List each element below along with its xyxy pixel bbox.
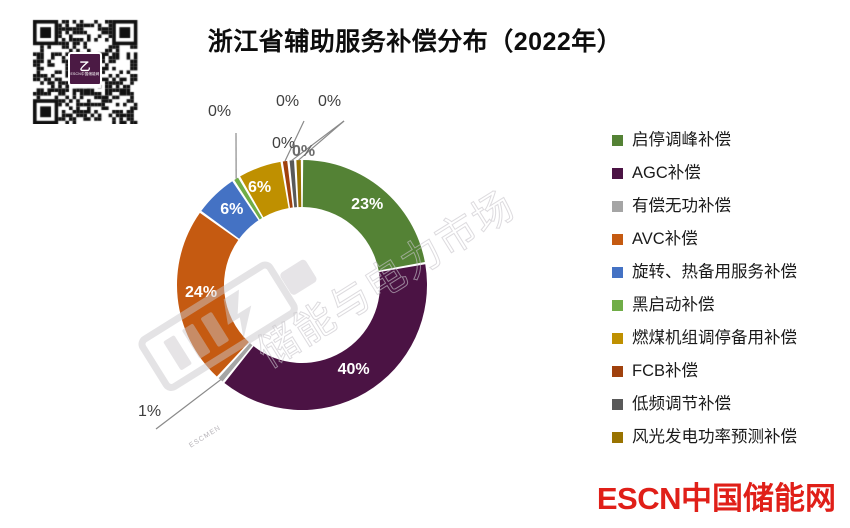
legend-item[interactable]: AVC补偿	[612, 223, 842, 256]
chart-legend: 启停调峰补偿AGC补偿有偿无功补偿AVC补偿旋转、热备用服务补偿黑启动补偿燃煤机…	[612, 124, 842, 454]
pie-data-label: 6%	[212, 201, 252, 219]
pie-slice[interactable]	[296, 160, 301, 207]
legend-item-label: AVC补偿	[632, 231, 698, 248]
legend-item[interactable]: 启停调峰补偿	[612, 124, 842, 157]
legend-color-swatch	[612, 234, 623, 245]
qr-center-logo: 乙 ESCN中国储能网	[68, 52, 102, 86]
pie-data-label: 0%	[292, 143, 315, 161]
legend-item[interactable]: 风光发电功率预测补偿	[612, 421, 842, 454]
pie-data-label: 1%	[138, 403, 161, 421]
legend-item-label: 风光发电功率预测补偿	[632, 429, 797, 446]
pie-data-label: 0%	[208, 103, 231, 121]
legend-item[interactable]: 燃煤机组调停备用补偿	[612, 322, 842, 355]
legend-item[interactable]: 有偿无功补偿	[612, 190, 842, 223]
legend-item-label: FCB补偿	[632, 363, 698, 380]
legend-item-label: 黑启动补偿	[632, 297, 715, 314]
pie-slice[interactable]	[303, 160, 425, 271]
doughnut-chart: 23%40%1%24%6%0%6%0%0%0%0%	[150, 95, 470, 480]
legend-item-label: 有偿无功补偿	[632, 198, 731, 215]
pie-slice[interactable]	[224, 264, 427, 410]
legend-item-label: 旋转、热备用服务补偿	[632, 264, 797, 281]
escn-brand-logo: ESCN中国储能网	[597, 473, 836, 518]
legend-color-swatch	[612, 432, 623, 443]
pie-data-label: 6%	[240, 179, 280, 197]
brand-chinese: 中国储能网	[681, 481, 836, 516]
legend-item-label: 燃煤机组调停备用补偿	[632, 330, 797, 347]
pie-data-label: 0%	[276, 93, 299, 111]
legend-color-swatch	[612, 399, 623, 410]
label-leader-line	[156, 380, 221, 429]
chart-page: 乙 ESCN中国储能网 浙江省辅助服务补偿分布（2022年） 23%40%1%2…	[0, 0, 850, 528]
qr-logo-mark: 乙	[80, 62, 91, 72]
legend-item[interactable]: 低频调节补偿	[612, 388, 842, 421]
chart-title: 浙江省辅助服务补偿分布（2022年）	[180, 22, 650, 58]
legend-item[interactable]: 黑启动补偿	[612, 289, 842, 322]
pie-data-label: 40%	[334, 361, 374, 379]
legend-color-swatch	[612, 267, 623, 278]
qr-logo-sub: ESCN中国储能网	[70, 72, 99, 76]
legend-color-swatch	[612, 300, 623, 311]
legend-color-swatch	[612, 135, 623, 146]
legend-item-label: 低频调节补偿	[632, 396, 731, 413]
legend-item-label: 启停调峰补偿	[632, 132, 731, 149]
pie-data-label: 23%	[347, 196, 387, 214]
legend-item[interactable]: 旋转、热备用服务补偿	[612, 256, 842, 289]
legend-color-swatch	[612, 333, 623, 344]
legend-color-swatch	[612, 201, 623, 212]
pie-data-label: 24%	[181, 284, 221, 302]
legend-item[interactable]: FCB补偿	[612, 355, 842, 388]
legend-color-swatch	[612, 366, 623, 377]
pie-data-label: 0%	[318, 93, 341, 111]
legend-color-swatch	[612, 168, 623, 179]
legend-item[interactable]: AGC补偿	[612, 157, 842, 190]
brand-latin: ESCN	[597, 481, 681, 516]
qr-code[interactable]: 乙 ESCN中国储能网	[25, 14, 145, 124]
legend-item-label: AGC补偿	[632, 165, 701, 182]
